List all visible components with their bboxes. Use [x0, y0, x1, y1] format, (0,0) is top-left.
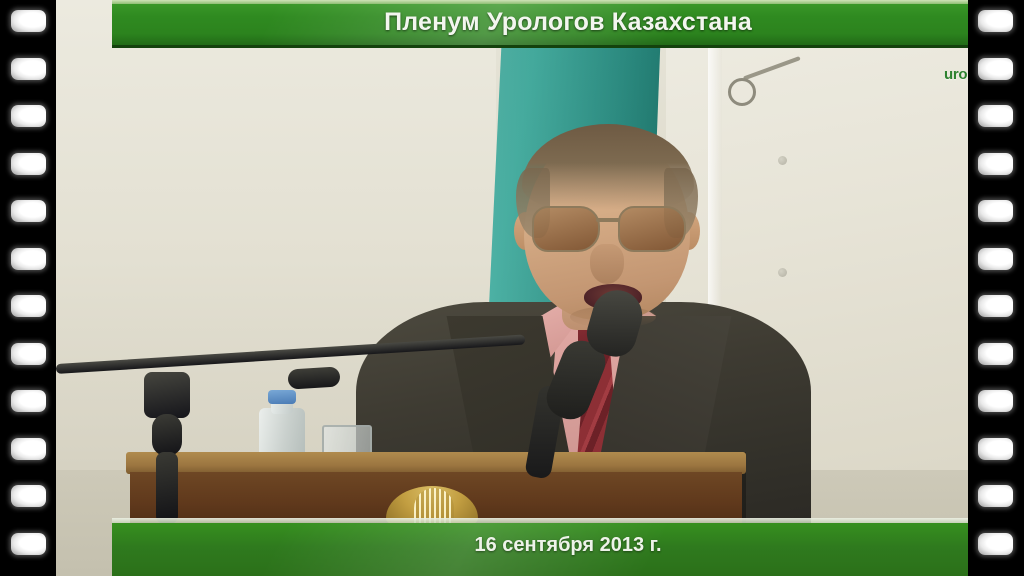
film-perforation: [978, 295, 1013, 317]
film-perforation: [11, 105, 46, 127]
film-perforation: [978, 533, 1013, 555]
film-perforation: [978, 105, 1013, 127]
film-perforation: [978, 200, 1013, 222]
film-perforation: [11, 200, 46, 222]
title-banner-bottom-edge: [112, 45, 968, 48]
eyeglasses: [530, 206, 686, 252]
wall-hook-icon: [728, 78, 756, 106]
film-perforation: [978, 58, 1013, 80]
water-bottle-cap: [268, 390, 296, 404]
film-perforation: [11, 10, 46, 32]
boom-stand-pole: [156, 452, 178, 524]
film-perforation: [978, 248, 1013, 270]
film-perforation: [11, 485, 46, 507]
boom-microphone: [287, 366, 340, 389]
film-perforation: [11, 58, 46, 80]
film-perforation: [978, 485, 1013, 507]
eyeglass-lens-right: [618, 206, 686, 252]
eyeglass-lens-left: [532, 206, 600, 252]
film-perforation: [978, 10, 1013, 32]
film-perforation-strip-left: [0, 0, 56, 576]
film-perforation: [11, 533, 46, 555]
film-perforation: [11, 248, 46, 270]
film-strip-frame: uro tv Пленум Урологов Казахста: [0, 0, 1024, 576]
film-perforation: [11, 153, 46, 175]
film-perforation: [11, 390, 46, 412]
title-banner: Пленум Урологов Казахстана: [112, 0, 968, 48]
film-perforation: [978, 438, 1013, 460]
page-title: Пленум Урологов Казахстана: [112, 0, 968, 45]
film-perforation: [978, 153, 1013, 175]
date-label: 16 сентября 2013 г.: [112, 523, 968, 567]
film-perforation: [978, 343, 1013, 365]
film-perforation: [11, 295, 46, 317]
film-perforation-strip-right: [968, 0, 1024, 576]
film-perforation: [11, 343, 46, 365]
film-perforation: [11, 438, 46, 460]
uro-tv-logo: uro tv: [944, 58, 968, 90]
photo-scene: [56, 0, 968, 576]
boom-stand-clamp: [144, 372, 190, 418]
video-frame[interactable]: uro tv Пленум Урологов Казахста: [56, 0, 968, 576]
eyeglass-bridge: [596, 218, 620, 222]
film-perforation: [978, 390, 1013, 412]
podium-top-surface: [126, 452, 746, 474]
date-banner: 16 сентября 2013 г.: [112, 523, 968, 576]
boom-stand-joint: [152, 414, 182, 456]
